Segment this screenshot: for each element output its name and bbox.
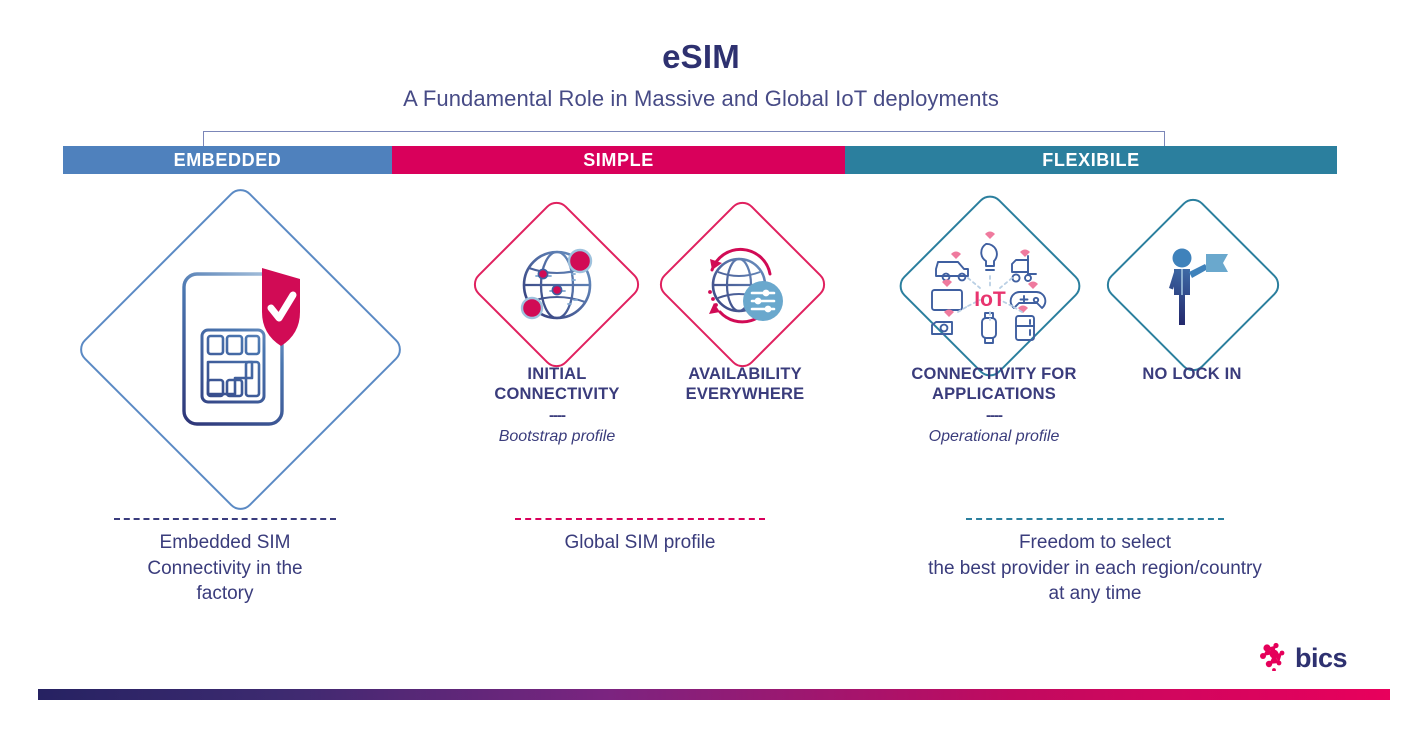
caption-no-lock-in: NO LOCK IN (1092, 365, 1292, 385)
category-bar-embedded[interactable]: EMBEDDED (63, 146, 392, 174)
bics-logo[interactable]: bics (1258, 641, 1347, 676)
category-bar-simple[interactable]: SIMPLE (392, 146, 845, 174)
footer-line-1: Embedded SIM (75, 530, 375, 556)
caption-line-1: AVAILABILITY (628, 365, 862, 385)
footer-line-3: at any time (860, 581, 1330, 607)
sim-card-shield-check-icon (178, 262, 304, 438)
icon-diamond-row: IoT (0, 186, 1402, 486)
category-bar-flexibile-label: FLEXIBILE (1042, 150, 1139, 171)
footer-flexible: Freedom to select the best provider in e… (860, 518, 1330, 607)
footer-line-1: Global SIM profile (490, 530, 790, 556)
caption-subtitle: Operational profile (868, 427, 1120, 448)
page-subtitle: A Fundamental Role in Massive and Global… (0, 86, 1402, 112)
person-holding-sign-icon (1156, 246, 1234, 328)
footer-dash-pink (515, 518, 765, 520)
column-no-lock-in[interactable] (1098, 200, 1288, 390)
category-bar-embedded-label: EMBEDDED (174, 150, 282, 171)
footer-simple: Global SIM profile (490, 518, 790, 556)
caption-line-2: EVERYWHERE (628, 385, 862, 405)
caption-line-1: NO LOCK IN (1092, 365, 1292, 385)
column-embedded-sim[interactable] (60, 190, 420, 510)
column-initial-connectivity[interactable] (462, 200, 652, 390)
caption-separator: ---- (440, 405, 674, 428)
iot-devices-cluster-icon: IoT (924, 226, 1056, 348)
bottom-gradient-rule (38, 689, 1390, 700)
caption-line-2: APPLICATIONS (868, 385, 1120, 405)
iot-label: IoT (974, 288, 1006, 311)
bics-logo-text: bics (1295, 643, 1347, 674)
caption-subtitle: Bootstrap profile (440, 427, 674, 448)
caption-separator: ---- (868, 405, 1120, 428)
footer-dash-navy (114, 518, 336, 520)
footer-dash-teal (966, 518, 1224, 520)
category-bar-group: EMBEDDED SIMPLE FLEXIBILE (63, 146, 1337, 174)
column-connectivity-applications[interactable]: IoT (890, 194, 1090, 394)
footer-line-2: the best provider in each region/country (860, 556, 1330, 582)
bics-cluster-mark-icon (1258, 641, 1292, 676)
category-bar-simple-label: SIMPLE (583, 150, 654, 171)
footer-line-3: factory (75, 581, 375, 607)
column-availability-everywhere[interactable] (648, 200, 838, 390)
slide-canvas: eSIM A Fundamental Role in Massive and G… (0, 0, 1402, 748)
category-bar-flexible[interactable]: FLEXIBILE (845, 146, 1337, 174)
globe-network-nodes-icon (510, 238, 604, 332)
caption-line-1: CONNECTIVITY FOR (868, 365, 1120, 385)
footer-line-2: Connectivity in the (75, 556, 375, 582)
globe-refresh-settings-icon (694, 236, 792, 334)
caption-connectivity-applications: CONNECTIVITY FOR APPLICATIONS ---- Opera… (868, 365, 1120, 448)
caption-availability-everywhere: AVAILABILITY EVERYWHERE (628, 365, 862, 405)
footer-embedded: Embedded SIM Connectivity in the factory (75, 518, 375, 607)
footer-line-1: Freedom to select (860, 530, 1330, 556)
page-title: eSIM (0, 38, 1402, 76)
